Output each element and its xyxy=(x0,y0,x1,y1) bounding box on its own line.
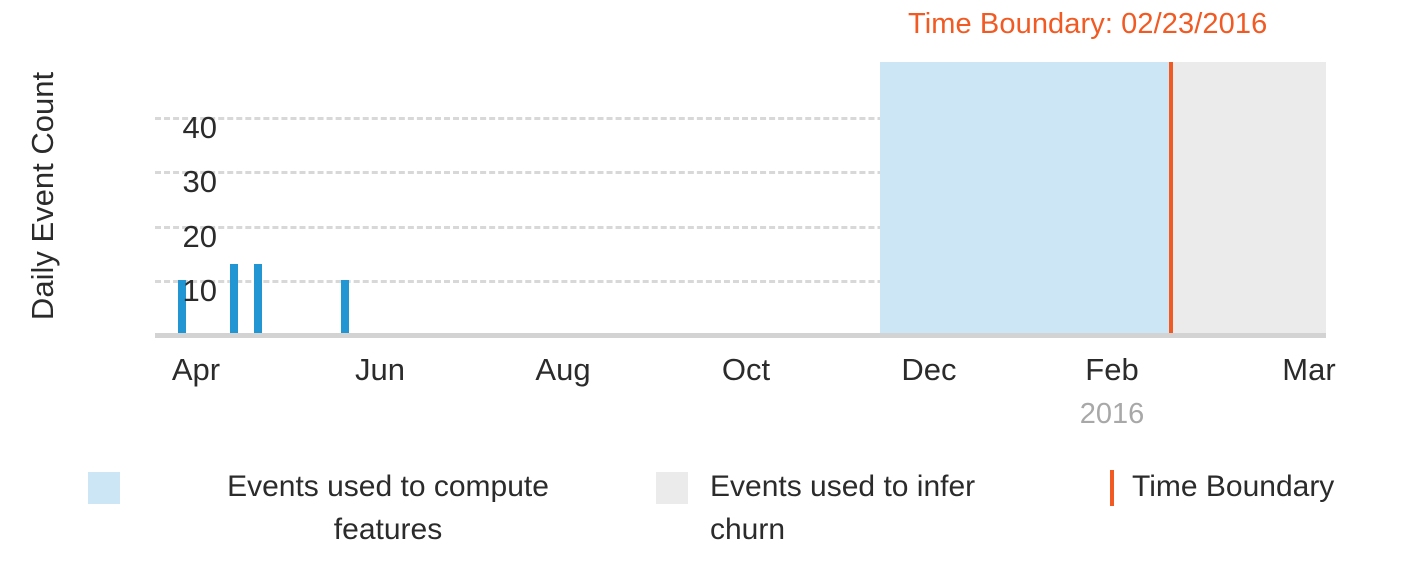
x-axis-tick-label: Dec xyxy=(849,352,1009,388)
span-features xyxy=(880,62,1169,335)
legend-swatch-churn-icon xyxy=(656,472,688,504)
x-axis-tick-label: Apr xyxy=(116,352,276,388)
bar xyxy=(254,264,262,335)
x-axis-tick-label: Aug xyxy=(483,352,643,388)
chart-figure: Time Boundary: 02/23/2016 Daily Event Co… xyxy=(0,0,1406,588)
time-boundary-annotation: Time Boundary: 02/23/2016 xyxy=(908,8,1267,41)
x-axis-tick-label: Jun xyxy=(300,352,460,388)
x-axis-tick-label: Feb xyxy=(1032,352,1192,388)
span-churn xyxy=(1169,62,1326,335)
x-axis-tick-label: Oct xyxy=(666,352,826,388)
y-axis-title: Daily Event Count xyxy=(22,26,64,366)
legend-label-features: Events used to compute features xyxy=(188,466,588,551)
x-axis-line xyxy=(155,333,1326,338)
legend-item-features[interactable]: Events used to compute features xyxy=(88,466,588,551)
x-axis-year-label: 2016 xyxy=(1032,398,1192,431)
legend-label-churn: Events used to infer churn xyxy=(710,466,1040,551)
legend-item-churn[interactable]: Events used to infer churn xyxy=(656,466,1056,551)
plot-area xyxy=(155,62,1326,335)
x-axis-tick-label: Mar xyxy=(1229,352,1389,388)
bar xyxy=(230,264,238,335)
legend-swatch-features-icon xyxy=(88,472,120,504)
legend-vline-boundary-icon xyxy=(1110,470,1114,506)
legend-item-boundary[interactable]: Time Boundary xyxy=(1110,466,1334,509)
time-boundary-line xyxy=(1169,62,1173,335)
bar xyxy=(341,280,349,335)
chart-legend: Events used to compute features Events u… xyxy=(0,466,1406,576)
legend-label-boundary: Time Boundary xyxy=(1132,466,1334,509)
